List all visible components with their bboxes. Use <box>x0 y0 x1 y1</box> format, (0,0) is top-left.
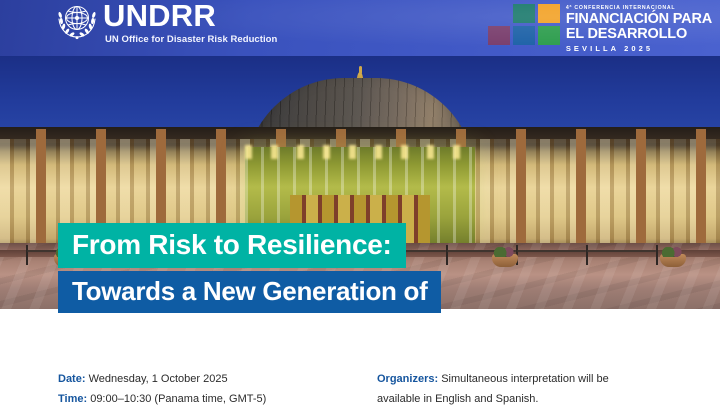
detail-date-row: Date: Wednesday, 1 October 2025 <box>58 369 358 389</box>
color-block-purple <box>488 26 510 45</box>
detail-interpretation-value: available in English and Spanish. <box>377 393 538 405</box>
detail-date-label: Date: <box>58 373 86 385</box>
undrr-wordmark: UNDRR UN Office for Disaster Risk Reduct… <box>103 0 277 45</box>
railing-post <box>656 245 658 265</box>
details-right-column: Organizers: Simultaneous interpretation … <box>377 369 697 405</box>
flower-planter <box>660 254 686 267</box>
color-block-empty <box>488 4 510 23</box>
detail-date-value: Wednesday, 1 October 2025 <box>86 373 228 385</box>
title-line-2: Towards a New Generation of <box>58 271 441 314</box>
facade-uplights <box>245 145 475 159</box>
detail-organizers-label: Organizers: <box>377 373 438 385</box>
undrr-logo-lockup: UNDRR UN Office for Disaster Risk Reduct… <box>52 1 277 45</box>
undrr-acronym: UNDRR <box>103 0 216 33</box>
ffd4-color-blocks <box>488 4 560 45</box>
details-section: Date: Wednesday, 1 October 2025 Time: 09… <box>0 313 720 405</box>
detail-time-row: Time: 09:00–10:30 (Panama time, GMT-5) <box>58 389 358 405</box>
detail-time-label: Time: <box>58 393 87 405</box>
railing-chain <box>587 250 656 252</box>
railing-post <box>26 245 28 265</box>
detail-organizers-value: Simultaneous interpretation will be <box>438 373 609 385</box>
title-row-1: From Risk to Resilience: <box>58 223 543 268</box>
detail-organizers-row: Organizers: Simultaneous interpretation … <box>377 369 697 389</box>
color-block-orange <box>538 4 560 23</box>
header-bar: UNDRR UN Office for Disaster Risk Reduct… <box>0 0 720 56</box>
ffd4-line1: FINANCIACIÓN PARA <box>566 12 712 27</box>
detail-interpretation-row: available in English and Spanish. <box>377 389 697 405</box>
undrr-full-name: UN Office for Disaster Risk Reduction <box>105 34 277 45</box>
detail-time-value: 09:00–10:30 (Panama time, GMT-5) <box>87 393 266 405</box>
event-flyer: UNDRR UN Office for Disaster Risk Reduct… <box>0 0 720 405</box>
ffd4-wordmark: 4ª CONFERENCIA INTERNACIONAL FINANCIACIÓ… <box>566 3 712 53</box>
color-block-green <box>538 26 560 45</box>
railing-post <box>586 245 588 265</box>
color-block-teal <box>513 4 535 23</box>
ffd4-kicker: 4ª CONFERENCIA INTERNACIONAL <box>566 5 712 11</box>
un-emblem-icon <box>52 0 102 44</box>
title-line-1: From Risk to Resilience: <box>58 223 406 268</box>
color-block-blue <box>513 26 535 45</box>
ffd4-line2: EL DESARROLLO <box>566 27 712 42</box>
title-row-2: Towards a New Generation of <box>58 271 543 314</box>
ffd4-city-year: SEVILLA 2025 <box>566 44 712 53</box>
ffd4-conference-logo: 4ª CONFERENCIA INTERNACIONAL FINANCIACIÓ… <box>488 3 712 53</box>
details-left-column: Date: Wednesday, 1 October 2025 Time: 09… <box>58 369 358 405</box>
